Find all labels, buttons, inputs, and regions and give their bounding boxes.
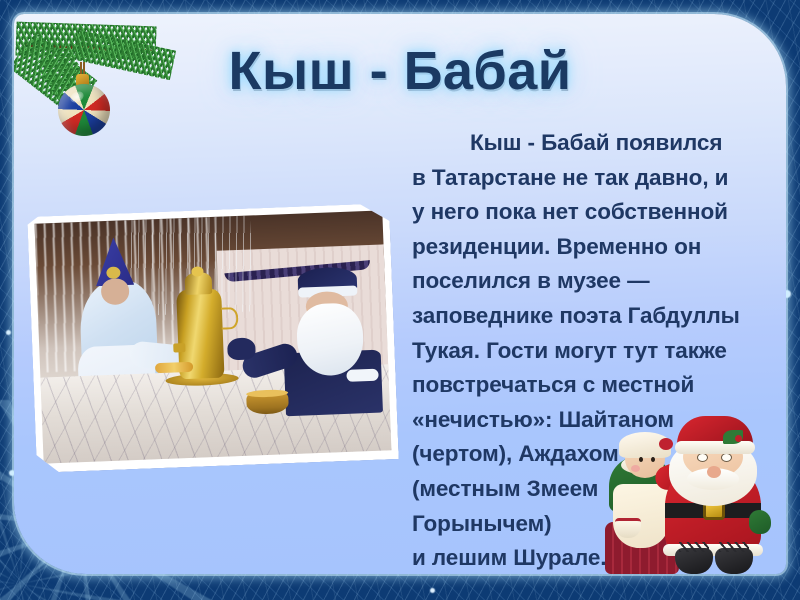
body-line: заповеднике поэта Габдуллы — [412, 299, 786, 334]
body-line: поселился в музее — — [412, 264, 786, 299]
body-line: Кыш - Бабай появился — [412, 126, 786, 161]
photo-image — [34, 210, 391, 463]
photo-white-border — [27, 203, 399, 473]
body-line: Тукая. Гости могут тут также — [412, 334, 786, 369]
body-line: повстречаться с местной — [412, 368, 786, 403]
mrs-claus-eye-right — [651, 457, 655, 462]
samovar-tap — [173, 343, 186, 353]
body-line: у него пока нет собственной — [412, 195, 786, 230]
body-line: в Татарстане не так давно, и — [412, 161, 786, 196]
kysh-babay-mitten — [227, 338, 256, 361]
mrs-claus-eye-left — [639, 457, 643, 462]
santa-boot-lace-left — [679, 542, 709, 552]
body-line: резиденции. Временно он — [412, 230, 786, 265]
santa-eye-right — [721, 453, 732, 462]
treat-in-hand — [155, 362, 194, 373]
santa-eye-left — [697, 453, 708, 462]
christmas-ball-ornament — [58, 84, 110, 136]
kysh-babay-cuff — [347, 369, 379, 382]
santa-couple-figurines — [599, 409, 784, 574]
mrs-claus-bow — [659, 438, 673, 450]
photo-frame[interactable] — [27, 203, 399, 473]
snow-dot — [6, 330, 11, 335]
santa-boot-lace-right — [719, 542, 749, 552]
santa-mitten — [749, 510, 771, 534]
fir-branch-decoration — [14, 18, 179, 148]
santa-nose — [707, 466, 721, 478]
slide-background: Кыш - Бабай Кыш - Бабай появился в Татар… — [0, 0, 800, 600]
snow-maiden-hat-emblem — [106, 266, 120, 279]
content-card: Кыш - Бабай Кыш - Бабай появился в Татар… — [14, 14, 786, 574]
santa-hat-trim — [675, 441, 755, 454]
snow-dot — [430, 588, 435, 593]
holly-berry-icon — [735, 435, 742, 442]
mrs-claus-cheek — [631, 465, 640, 472]
mrs-claus-apron — [613, 484, 669, 548]
